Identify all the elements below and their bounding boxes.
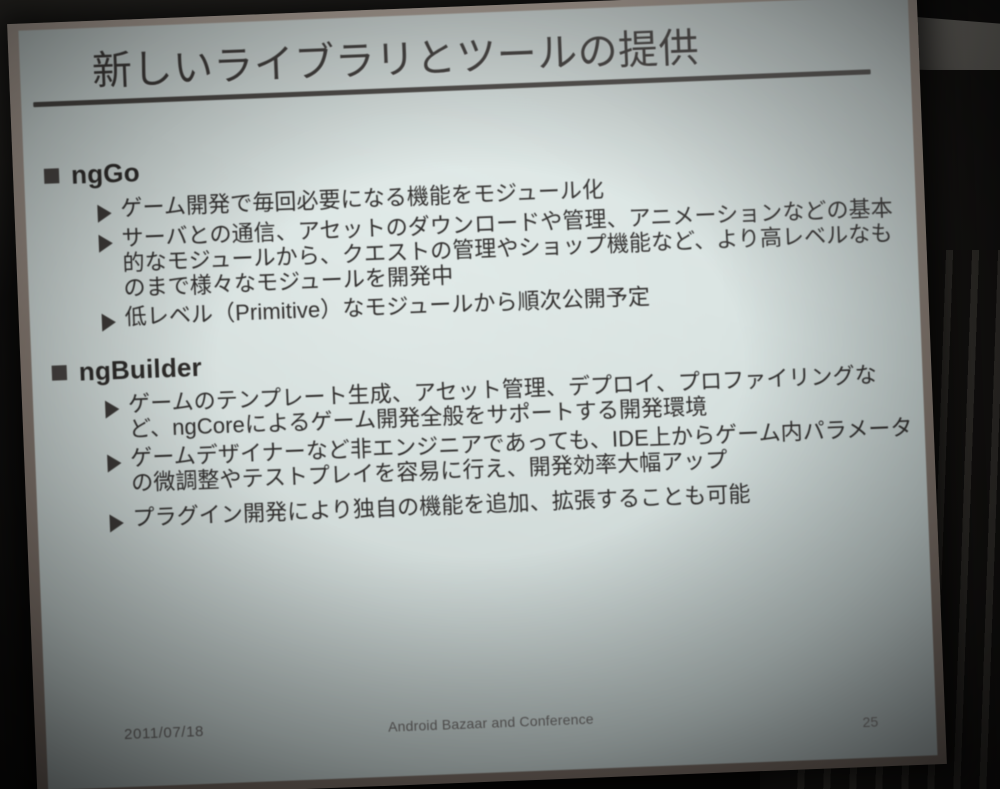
filled-square-bullet-icon [44, 168, 60, 184]
filled-triangle-bullet-icon [98, 234, 113, 253]
page-title: 新しいライブラリとツールの提供 [91, 19, 882, 95]
filled-triangle-bullet-icon [97, 204, 112, 223]
presentation-slide: 新しいライブラリとツールの提供 ngGo ゲーム開発で毎回必要になる機能をモジュ… [18, 0, 937, 789]
filled-square-bullet-icon [52, 365, 68, 381]
filled-triangle-bullet-icon [107, 454, 122, 473]
filled-triangle-bullet-icon [102, 313, 117, 332]
filled-triangle-bullet-icon [109, 514, 124, 533]
screen-frame: 新しいライブラリとツールの提供 ngGo ゲーム開発で毎回必要になる機能をモジュ… [7, 0, 947, 789]
footer-page-number: 25 [862, 714, 878, 731]
filled-triangle-bullet-icon [105, 400, 120, 419]
footer-event-name: Android Bazaar and Conference [46, 697, 936, 748]
projection-screen-area: 新しいライブラリとツールの提供 ngGo ゲーム開発で毎回必要になる機能をモジュ… [0, 0, 1000, 789]
slide-body: ngGo ゲーム開発で毎回必要になる機能をモジュール化 サーバとの通信、アセット… [43, 126, 917, 539]
section-heading-label: ngGo [70, 156, 140, 191]
section-heading-label: ngBuilder [78, 350, 202, 387]
